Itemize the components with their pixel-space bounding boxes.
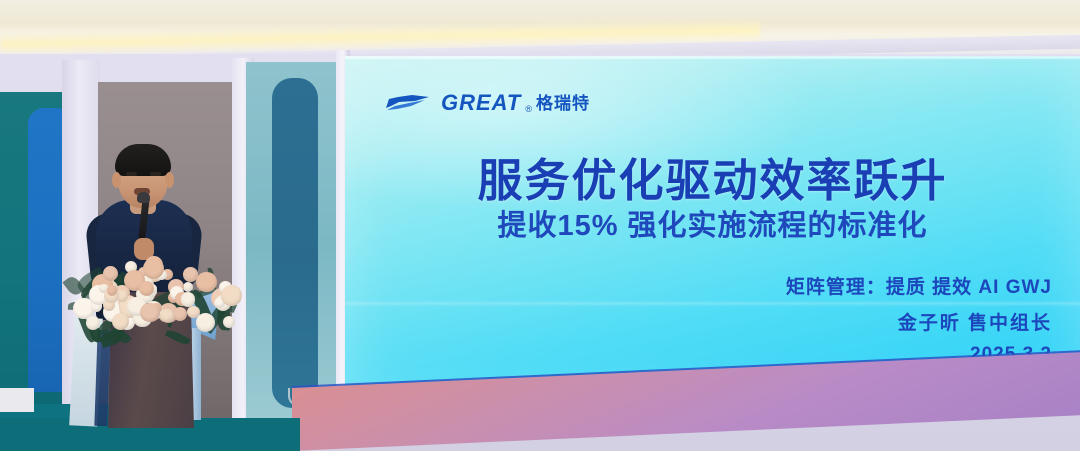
stage-white-box <box>0 388 34 412</box>
slide-title: 服务优化驱动效率跃升 <box>345 144 1080 209</box>
rose <box>183 282 193 292</box>
rose <box>196 313 215 332</box>
rose <box>173 307 187 321</box>
speaker-hair <box>115 144 171 176</box>
speaker-ear-left <box>112 172 121 188</box>
great-swoosh-icon <box>385 94 437 114</box>
rose <box>223 316 235 328</box>
speaker-eye-left <box>126 172 137 176</box>
rose <box>139 281 154 296</box>
slide-meta-line-2: 金子昕 售中组长 <box>786 308 1052 335</box>
great-logo: GREAT ® 格瑞特 <box>385 92 590 114</box>
rose <box>103 266 118 281</box>
speaker-ear-right <box>165 172 174 188</box>
rose <box>140 303 160 323</box>
led-presentation-screen: GREAT ® 格瑞特 服务优化驱动效率跃升 提收15% 强化实施流程的标准化 … <box>345 56 1080 404</box>
speaker-eye-right <box>150 172 161 176</box>
wall-inset-blue-right <box>272 78 318 408</box>
logo-registered-icon: ® <box>525 104 532 114</box>
rose <box>221 285 242 306</box>
rose <box>160 309 173 322</box>
rose <box>196 272 216 292</box>
rose <box>181 292 196 307</box>
rose <box>112 313 129 330</box>
slide-meta-line-1: 矩阵管理：提质 提效 AI GWJ <box>786 272 1052 299</box>
screen-top-edge <box>345 56 1080 59</box>
flower-arrangement <box>62 246 237 334</box>
microphone-head <box>137 192 150 203</box>
rose <box>183 267 198 282</box>
logo-chinese-name: 格瑞特 <box>536 95 590 114</box>
rose <box>143 258 164 279</box>
conference-stage-photo: GREAT ® 格瑞特 服务优化驱动效率跃升 提收15% 强化实施流程的标准化 … <box>0 0 1080 451</box>
slide-subtitle: 提收15% 强化实施流程的标准化 <box>345 202 1080 244</box>
logo-wordmark: GREAT <box>441 92 521 114</box>
rose <box>86 316 100 330</box>
rose <box>107 285 117 295</box>
